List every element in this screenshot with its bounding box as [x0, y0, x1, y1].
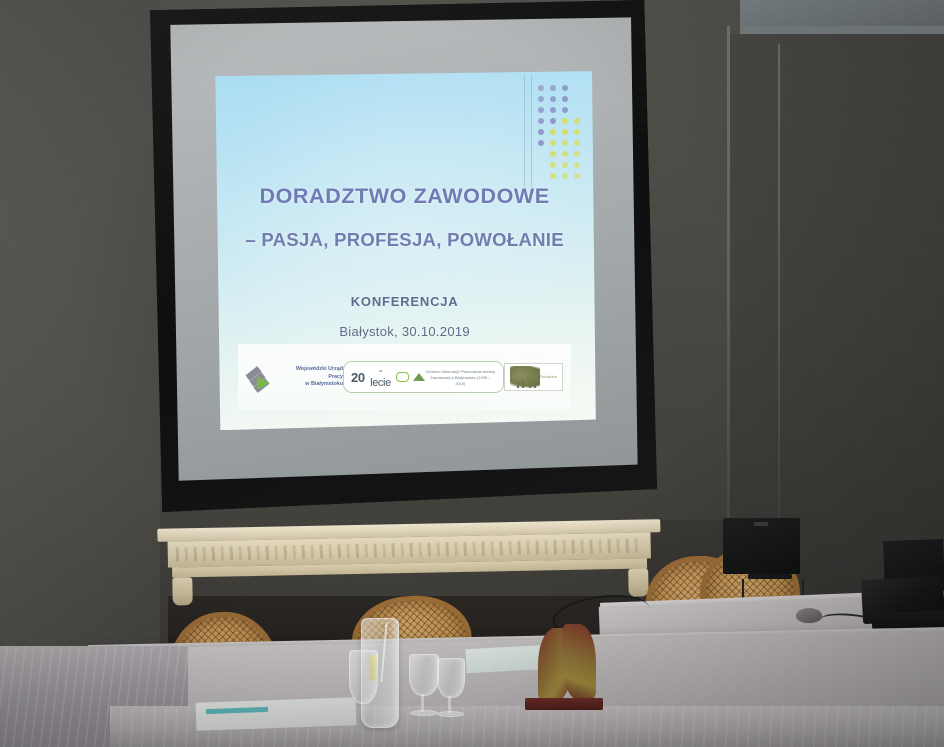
- conference-room-photo: DORADZTWO ZAWODOWE – PASJA, PROFESJA, PO…: [0, 0, 944, 747]
- decoration-dot: [574, 162, 580, 168]
- tree-icon: [413, 373, 425, 381]
- slide-title-line2: – PASJA, PROFESJA, POWOŁANIE: [213, 229, 595, 251]
- wine-glass-3: [437, 658, 465, 698]
- decoration-dot: [574, 173, 580, 179]
- slide-place-date: Białystok, 30.10.2019: [213, 324, 595, 339]
- wup-logo-text: Wojewódzki Urząd Pracy w Białymstoku: [280, 366, 343, 388]
- decoration-dot: [550, 107, 556, 113]
- papers-stack-left: [196, 697, 357, 731]
- decoration-dot: [574, 129, 580, 135]
- decoration-dot: [538, 129, 544, 135]
- slide-logo-bar: Wojewódzki Urząd Pracy w Białymstoku 20 …: [238, 344, 571, 410]
- lecie-fineprint: Centrum Informacji i Planowania Kariery …: [425, 369, 495, 387]
- monitor-on-stand: [723, 518, 800, 574]
- lecie-fine-line1: Centrum Informacji i Planowania Kariery: [425, 369, 495, 375]
- wooden-award-base: [525, 698, 603, 710]
- wup-arrow-icon: [257, 376, 269, 390]
- lecie-suffix: -lecie: [369, 365, 393, 389]
- decoration-dot: [538, 140, 544, 146]
- slide-event-label: KONFERENCJA: [213, 294, 595, 309]
- decoration-dot: [574, 140, 580, 146]
- presentation-slide: DORADZTWO ZAWODOWE – PASJA, PROFESJA, PO…: [213, 71, 595, 430]
- wup-text-line1: Wojewódzki Urząd Pracy: [280, 366, 343, 381]
- ornamental-mantel: [157, 519, 661, 607]
- mantel-corbel-left: [172, 577, 193, 605]
- wooden-award-right-wing: [562, 624, 596, 700]
- left-wall: [0, 0, 160, 747]
- decoration-dot: [550, 140, 556, 146]
- decoration-dot: [550, 96, 556, 102]
- decoration-dot: [562, 85, 568, 91]
- decoration-dot: [562, 162, 568, 168]
- decoration-dot: [538, 96, 544, 102]
- decoration-dot: [562, 107, 568, 113]
- decoration-dot: [550, 173, 556, 179]
- wup-chevron-icon: [246, 362, 276, 392]
- wine-glass-3-foot: [437, 711, 464, 717]
- decoration-dot: [538, 85, 544, 91]
- lecie-fine-line2: Zawodowej w Białymstoku (1999 – 2019): [425, 375, 495, 387]
- decoration-dot: [562, 140, 568, 146]
- wup-text-line2: w Białymstoku: [280, 381, 343, 388]
- lecie-number: 20: [351, 370, 365, 385]
- wine-glass-2: [409, 654, 439, 696]
- decoration-dot: [550, 129, 556, 135]
- wine-glass-2-foot: [410, 710, 438, 716]
- decoration-dot: [562, 129, 568, 135]
- monitor-camera-icon: [754, 522, 768, 526]
- decoration-dot: [550, 85, 556, 91]
- decoration-dot: [574, 118, 580, 124]
- wojewodzki-urzad-pracy-logo: Wojewódzki Urząd Pracy w Białymstoku: [246, 362, 343, 392]
- dot-grid-decoration: [522, 75, 590, 187]
- decoration-dot: [562, 96, 568, 102]
- projection-screen: DORADZTWO ZAWODOWE – PASJA, PROFESJA, PO…: [147, 0, 657, 512]
- bison-icon: [510, 366, 540, 388]
- decoration-dot: [562, 151, 568, 157]
- podlaskie-bison-logo: Podlaskie: [504, 363, 563, 391]
- decoration-dot: [562, 118, 568, 124]
- decoration-dot: [550, 118, 556, 124]
- lecie-headline: 20 -lecie: [351, 365, 425, 389]
- decoration-dot: [550, 151, 556, 157]
- slide-title-line1: DORADZTWO ZAWODOWE: [213, 184, 595, 209]
- decoration-dot: [538, 107, 544, 113]
- decoration-dot: [550, 162, 556, 168]
- 20-lecie-logo: 20 -lecie Centrum Informacji i Planowani…: [343, 361, 504, 393]
- podlaskie-caption: Podlaskie: [540, 375, 557, 379]
- wine-glass-1: [349, 650, 378, 704]
- decoration-dot: [562, 173, 568, 179]
- computer-mouse: [796, 608, 822, 623]
- decoration-dot: [538, 118, 544, 124]
- link-loop-icon: [396, 372, 409, 382]
- decoration-dot: [574, 151, 580, 157]
- screen-surface: DORADZTWO ZAWODOWE – PASJA, PROFESJA, PO…: [168, 17, 637, 480]
